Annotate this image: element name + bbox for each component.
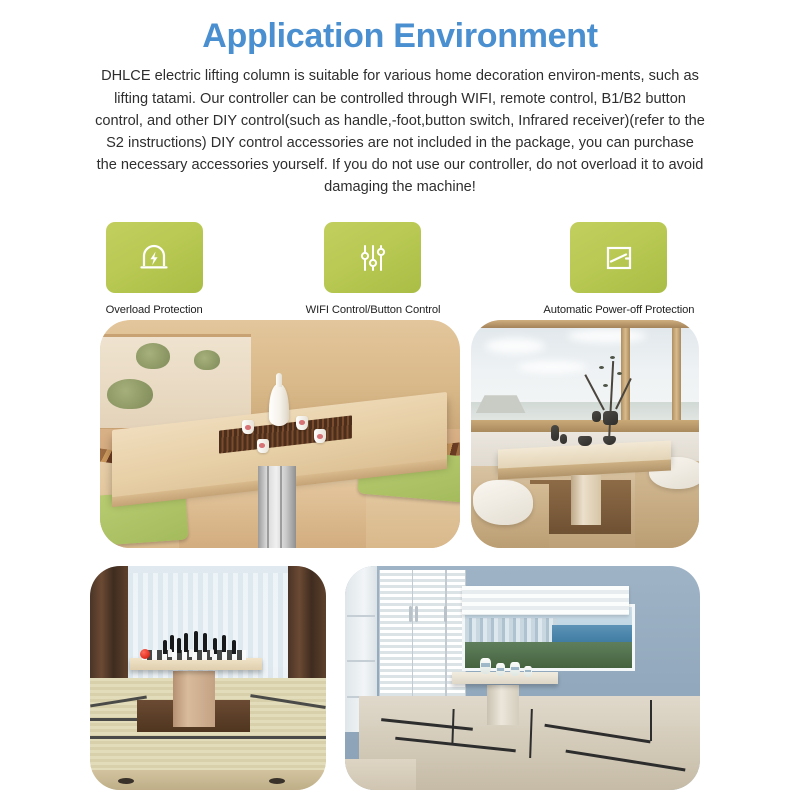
photo-blue-room-sea-view-table xyxy=(345,566,700,790)
power-off-switch-badge xyxy=(570,222,667,293)
overload-protection-badge xyxy=(106,222,203,293)
intro-paragraph: DHLCE electric lifting column is suitabl… xyxy=(94,65,706,198)
page-title: Application Environment xyxy=(0,0,800,55)
feature-overload-protection: Overload Protection xyxy=(106,222,203,316)
feature-label: Automatic Power-off Protection xyxy=(543,304,694,316)
photo-tatami-room-chess-table xyxy=(90,566,326,790)
photo-wooden-lifting-table-sake-set xyxy=(100,320,460,548)
photo-window-side-tea-table xyxy=(471,320,699,548)
overload-protection-icon xyxy=(137,241,171,275)
feature-wifi-button-control: WIFI Control/Button Control xyxy=(306,222,441,316)
sliders-control-icon xyxy=(356,241,390,275)
feature-auto-power-off: Automatic Power-off Protection xyxy=(543,222,694,316)
sliders-control-badge xyxy=(324,222,421,293)
feature-label: WIFI Control/Button Control xyxy=(306,304,441,316)
feature-label: Overload Protection xyxy=(106,304,203,316)
feature-badges-row: Overload Protection WIFI Control/Button … xyxy=(0,222,800,316)
power-off-switch-icon xyxy=(602,241,636,275)
